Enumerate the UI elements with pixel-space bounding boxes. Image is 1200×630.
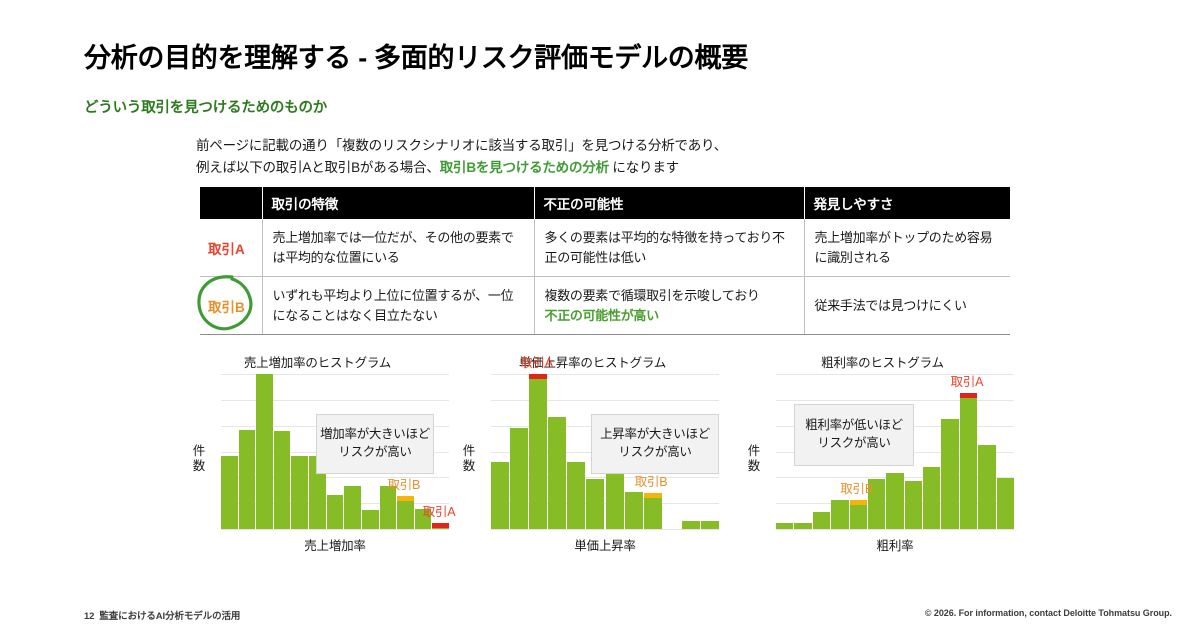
histogram-bar <box>923 467 940 529</box>
histogram-bar <box>625 492 643 529</box>
chart-gridline <box>491 400 719 401</box>
histogram-bar <box>274 431 291 529</box>
histogram-bar <box>960 393 977 529</box>
comparison-table-wrapper: 取引の特徴 不正の可能性 発見しやすさ 取引A 売上増加率では一位だが、その他の… <box>200 187 1010 335</box>
row-label-transaction-b: 取引B <box>200 277 262 335</box>
histogram-bar <box>239 430 256 529</box>
histogram-bar <box>586 479 604 529</box>
chart-gridline <box>776 529 1014 530</box>
histogram-bar <box>978 445 995 529</box>
histogram-bar <box>510 428 528 529</box>
chart-gridline <box>221 529 449 530</box>
lead-line-2-pre: 例えば以下の取引Aと取引Bがある場合、 <box>196 160 440 175</box>
histogram-bar <box>644 493 662 529</box>
chart-xlabel: 単価上昇率 <box>491 535 719 554</box>
chart-callout: 粗利率が低いほどリスクが高い <box>794 404 914 466</box>
marker-label-a: 取引A <box>423 501 456 520</box>
cell-a-detect: 売上増加率がトップのため容易に識別される <box>804 219 1010 277</box>
chart-ylabel: 件数 <box>191 444 207 474</box>
marker-label-b: 取引B <box>840 478 873 497</box>
cell-a-feature: 売上増加率では一位だが、その他の要素では平均的な位置にいる <box>262 219 534 277</box>
lead-line-2-highlight: 取引Bを見つけるための分析 <box>440 160 609 175</box>
chart-plot-area: 取引A取引B上昇率が大きいほどリスクが高い <box>491 374 719 529</box>
charts-container: 売上増加率のヒストグラム 件数 取引B取引A増加率が大きいほどリスクが高い 売上… <box>0 352 1200 582</box>
chart-title: 売上増加率のヒストグラム <box>185 352 450 371</box>
footer-left: 12監査におけるAI分析モデルの活用 <box>84 608 240 622</box>
histogram-bar <box>291 456 308 529</box>
table-row: 取引A 売上増加率では一位だが、その他の要素では平均的な位置にいる 多くの要素は… <box>200 219 1010 277</box>
footer-page-number: 12 <box>84 611 94 622</box>
marker-label-b: 取引B <box>635 471 668 490</box>
histogram-bar <box>327 495 344 529</box>
marker-label-a: 取引A <box>951 371 984 390</box>
chart-title: 単価上昇率のヒストグラム <box>455 352 730 371</box>
footer-deck-title: 監査におけるAI分析モデルの活用 <box>99 611 240 622</box>
histogram-bar <box>831 500 848 529</box>
histogram-bar <box>794 523 811 529</box>
lead-line-1: 前ページに記載の通り「複数のリスクシナリオに該当する取引」を見つける分析であり、 <box>196 135 727 157</box>
lead-line-2-post: になります <box>609 160 679 175</box>
histogram-bar <box>344 486 361 529</box>
cell-b-detect: 従来手法では見つけにくい <box>804 277 1010 335</box>
histogram-bar <box>886 473 903 529</box>
chart-gridline <box>221 374 449 375</box>
slide-root: 分析の目的を理解する - 多面的リスク評価モデルの概要 どういう取引を見つけるた… <box>0 0 1200 630</box>
histogram-bar <box>941 419 958 529</box>
table-header-feature: 取引の特徴 <box>262 187 534 219</box>
histogram-bar <box>548 417 566 529</box>
histogram-bar <box>256 374 273 529</box>
table-header-detect: 発見しやすさ <box>804 187 1010 219</box>
chart-gridline <box>776 400 1014 401</box>
chart-plot-area: 取引B取引A増加率が大きいほどリスクが高い <box>221 374 449 529</box>
marker-cap-a <box>960 393 977 398</box>
cell-b-fraud-highlight: 不正の可能性が高い <box>545 308 659 323</box>
marker-cap-a <box>432 523 449 528</box>
chart-gridline <box>221 400 449 401</box>
cell-a-fraud-plain: 多くの要素は平均的な特徴を持っており不正の可能性は低い <box>545 230 785 265</box>
chart-ylabel: 件数 <box>746 444 762 474</box>
chart-ylabel: 件数 <box>461 444 477 474</box>
marker-label-b: 取引B <box>387 474 420 493</box>
histogram-bar <box>362 510 379 529</box>
chart-gridline <box>491 374 719 375</box>
histogram-bar <box>701 521 719 529</box>
cell-b-fraud-plain: 複数の要素で循環取引を示唆しており <box>545 288 760 303</box>
section-subtitle: どういう取引を見つけるためのものか <box>84 96 327 117</box>
chart-plot-area: 取引B取引A粗利率が低いほどリスクが高い <box>776 374 1014 529</box>
marker-cap-b <box>397 496 414 501</box>
chart-gridline <box>491 529 719 530</box>
histogram-bar <box>905 481 922 529</box>
marker-cap-b <box>850 500 867 505</box>
marker-cap-a <box>529 374 547 379</box>
table-row: 取引B いずれも平均より上位に位置するが、一位になることはなく目立たない 複数の… <box>200 277 1010 335</box>
cell-a-fraud: 多くの要素は平均的な特徴を持っており不正の可能性は低い <box>534 219 804 277</box>
histogram-bar <box>529 374 547 529</box>
histogram-bar <box>776 523 793 529</box>
table-header-row: 取引の特徴 不正の可能性 発見しやすさ <box>200 187 1010 219</box>
comparison-table: 取引の特徴 不正の可能性 発見しやすさ 取引A 売上増加率では一位だが、その他の… <box>200 187 1010 335</box>
histogram-bar <box>997 478 1014 529</box>
chart-xlabel: 粗利率 <box>776 535 1014 554</box>
chart-title: 粗利率のヒストグラム <box>740 352 1025 371</box>
histogram-bar <box>221 456 238 529</box>
histogram-bar <box>567 462 585 529</box>
table-header-blank <box>200 187 262 219</box>
row-label-transaction-a: 取引A <box>200 219 262 277</box>
chart-callout: 増加率が大きいほどリスクが高い <box>316 414 434 474</box>
lead-paragraph: 前ページに記載の通り「複数のリスクシナリオに該当する取引」を見つける分析であり、… <box>196 135 727 179</box>
histogram-bar <box>491 462 509 529</box>
chart-xlabel: 売上増加率 <box>221 535 449 554</box>
chart-callout: 上昇率が大きいほどリスクが高い <box>591 414 719 474</box>
histogram-bar <box>813 512 830 529</box>
page-title: 分析の目的を理解する - 多面的リスク評価モデルの概要 <box>84 36 748 75</box>
table-header-fraud: 不正の可能性 <box>534 187 804 219</box>
cell-b-feature: いずれも平均より上位に位置するが、一位になることはなく目立たない <box>262 277 534 335</box>
marker-cap-b <box>644 493 662 498</box>
lead-line-2: 例えば以下の取引Aと取引Bがある場合、取引Bを見つけるための分析 になります <box>196 157 727 179</box>
footer-copyright: © 2026. For information, contact Deloitt… <box>925 608 1172 618</box>
cell-b-fraud: 複数の要素で循環取引を示唆しており 不正の可能性が高い <box>534 277 804 335</box>
histogram-bar <box>606 472 624 529</box>
marker-label-a: 取引A <box>520 352 553 371</box>
histogram-bar <box>682 521 700 529</box>
